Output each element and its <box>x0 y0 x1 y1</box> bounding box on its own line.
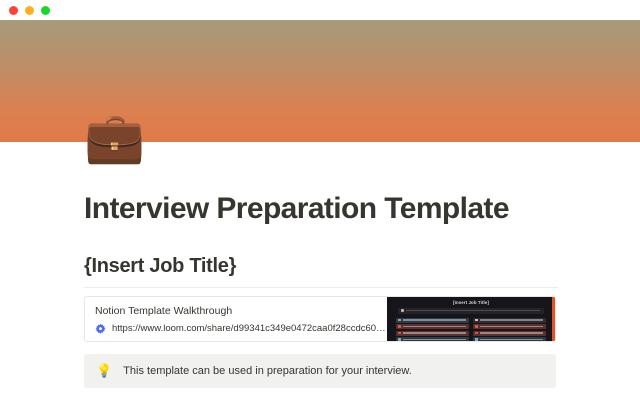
thumbnail-mini-column-left <box>396 318 469 341</box>
thumbnail-mini-row <box>396 324 469 329</box>
page-content: Interview Preparation Template {Insert J… <box>0 142 640 400</box>
thumbnail-mini-row-swatch <box>398 325 401 328</box>
bookmark-title: Notion Template Walkthrough <box>95 304 387 318</box>
section-heading-job-title[interactable]: {Insert Job Title} <box>84 227 558 278</box>
bookmark-url-row: https://www.loom.com/share/d99341c349e04… <box>95 323 387 335</box>
thumbnail-mini-row-line <box>480 326 544 328</box>
thumbnail-mini-callout <box>398 308 544 314</box>
thumbnail-mini-row-line <box>403 339 467 341</box>
thumbnail-mini-row-swatch <box>475 319 478 322</box>
thumbnail-mini-page: [Insert Job Title] <box>387 297 555 341</box>
thumbnail-mini-row <box>473 318 546 323</box>
thumbnail-mini-row <box>473 324 546 329</box>
thumbnail-mini-row-line <box>480 319 544 321</box>
thumbnail-mini-title: [Insert Job Title] <box>394 300 548 305</box>
window-titlebar <box>0 0 640 20</box>
thumbnail-mini-row <box>473 331 546 336</box>
callout-block[interactable]: 💡 This template can be used in preparati… <box>84 354 556 388</box>
thumbnail-mini-row-swatch <box>475 338 478 340</box>
briefcase-emoji[interactable]: 💼 <box>84 114 145 163</box>
thumbnail-mini-columns <box>394 318 548 341</box>
thumbnail-mini-callout-line <box>406 310 541 312</box>
bookmark-url: https://www.loom.com/share/d99341c349e04… <box>112 323 387 335</box>
callout-text: This template can be used in preparation… <box>123 363 412 379</box>
bookmark-card-loom[interactable]: Notion Template Walkthrough https://www.… <box>84 296 556 342</box>
window-close-button[interactable] <box>9 6 18 15</box>
window-minimize-button[interactable] <box>25 6 34 15</box>
page-title[interactable]: Interview Preparation Template <box>84 142 558 227</box>
thumbnail-mini-row <box>396 331 469 336</box>
thumbnail-accent-bar <box>552 297 555 341</box>
divider-under-heading <box>84 287 558 288</box>
thumbnail-mini-row-line <box>480 339 544 341</box>
thumbnail-mini-row-swatch <box>398 319 401 322</box>
bookmark-thumbnail: [Insert Job Title] <box>387 297 555 341</box>
thumbnail-mini-row-line <box>480 332 544 334</box>
thumbnail-mini-row <box>396 337 469 341</box>
thumbnail-mini-row-line <box>403 332 467 334</box>
thumbnail-mini-row-swatch <box>475 325 478 328</box>
thumbnail-mini-row-line <box>403 319 467 321</box>
thumbnail-mini-row-swatch <box>398 338 401 340</box>
bookmark-text-area: Notion Template Walkthrough https://www.… <box>85 297 387 341</box>
window-maximize-button[interactable] <box>41 6 50 15</box>
lightbulb-emoji: 💡 <box>96 364 112 377</box>
thumbnail-mini-row <box>396 318 469 323</box>
thumbnail-mini-row <box>473 337 546 341</box>
thumbnail-mini-callout-dot <box>401 309 404 312</box>
thumbnail-mini-row-swatch <box>475 332 478 335</box>
browser-window: 💼 Interview Preparation Template {Insert… <box>0 0 640 400</box>
thumbnail-mini-column-right <box>473 318 546 341</box>
thumbnail-mini-row-line <box>403 326 467 328</box>
thumbnail-mini-row-swatch <box>398 332 401 335</box>
loom-gear-favicon-icon <box>95 323 106 334</box>
